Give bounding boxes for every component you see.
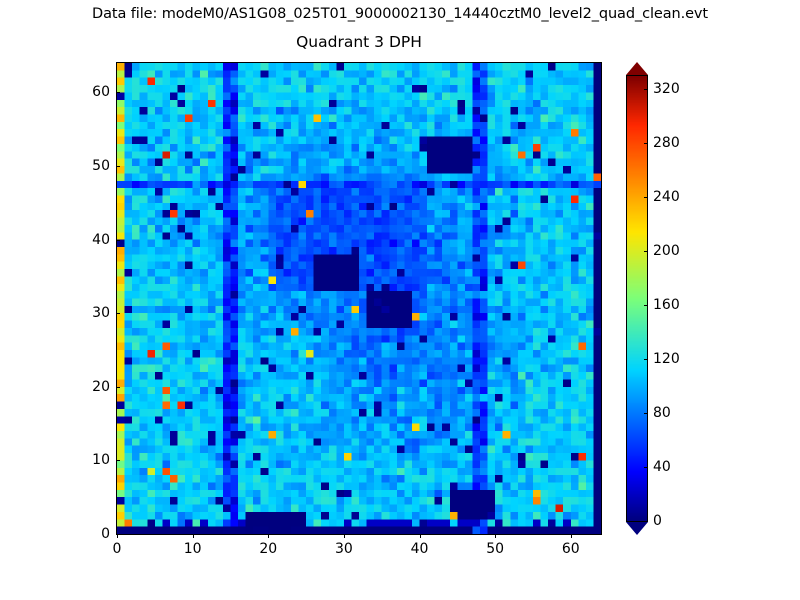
y-tick-mark: [116, 313, 120, 314]
x-tick-label: 0: [113, 541, 122, 557]
x-tick-label: 20: [259, 541, 277, 557]
x-tick-mark: [571, 534, 572, 538]
colorbar-tick-mark: [644, 413, 648, 414]
x-tick-label: 50: [486, 541, 504, 557]
colorbar-gradient: [626, 75, 648, 522]
x-tick-label: 10: [184, 541, 202, 557]
colorbar-over-arrow-icon: [626, 62, 648, 75]
colorbar-tick-mark: [644, 197, 648, 198]
colorbar-under-arrow-icon: [626, 522, 648, 535]
colorbar-tick-label: 120: [653, 351, 680, 367]
colorbar-tick-label: 0: [653, 513, 662, 529]
colorbar-tick-label: 280: [653, 135, 680, 151]
x-tick-mark: [193, 534, 194, 538]
colorbar-tick-mark: [644, 521, 648, 522]
y-tick-mark: [116, 387, 120, 388]
x-tick-mark: [268, 534, 269, 538]
x-tick-label: 30: [335, 541, 353, 557]
y-tick-mark: [116, 166, 120, 167]
colorbar-tick-mark: [644, 467, 648, 468]
figure-canvas: Data file: modeM0/AS1G08_025T01_90000021…: [0, 0, 800, 600]
y-tick-label: 60: [80, 84, 110, 100]
heatmap-image: [117, 63, 601, 534]
heatmap-axes[interactable]: [116, 62, 602, 535]
colorbar-tick-label: 40: [653, 459, 671, 475]
y-tick-mark: [116, 460, 120, 461]
y-tick-label: 50: [80, 158, 110, 174]
y-tick-label: 0: [80, 526, 110, 542]
colorbar-tick-mark: [644, 305, 648, 306]
colorbar[interactable]: [626, 62, 648, 535]
x-tick-mark: [495, 534, 496, 538]
colorbar-tick-mark: [644, 251, 648, 252]
colorbar-tick-label: 80: [653, 405, 671, 421]
y-tick-label: 20: [80, 379, 110, 395]
y-tick-mark: [116, 240, 120, 241]
y-tick-label: 10: [80, 452, 110, 468]
page-title: Quadrant 3 DPH: [116, 33, 602, 51]
data-file-suptitle: Data file: modeM0/AS1G08_025T01_90000021…: [0, 6, 800, 22]
colorbar-tick-label: 320: [653, 81, 680, 97]
y-tick-label: 30: [80, 305, 110, 321]
colorbar-tick-mark: [644, 89, 648, 90]
x-tick-mark: [420, 534, 421, 538]
y-tick-mark: [116, 534, 120, 535]
x-tick-label: 40: [411, 541, 429, 557]
colorbar-tick-mark: [644, 359, 648, 360]
x-tick-mark: [344, 534, 345, 538]
colorbar-tick-label: 240: [653, 189, 680, 205]
x-tick-label: 60: [562, 541, 580, 557]
colorbar-tick-label: 200: [653, 243, 680, 259]
colorbar-tick-label: 160: [653, 297, 680, 313]
y-tick-mark: [116, 92, 120, 93]
y-tick-label: 40: [80, 232, 110, 248]
colorbar-tick-mark: [644, 143, 648, 144]
